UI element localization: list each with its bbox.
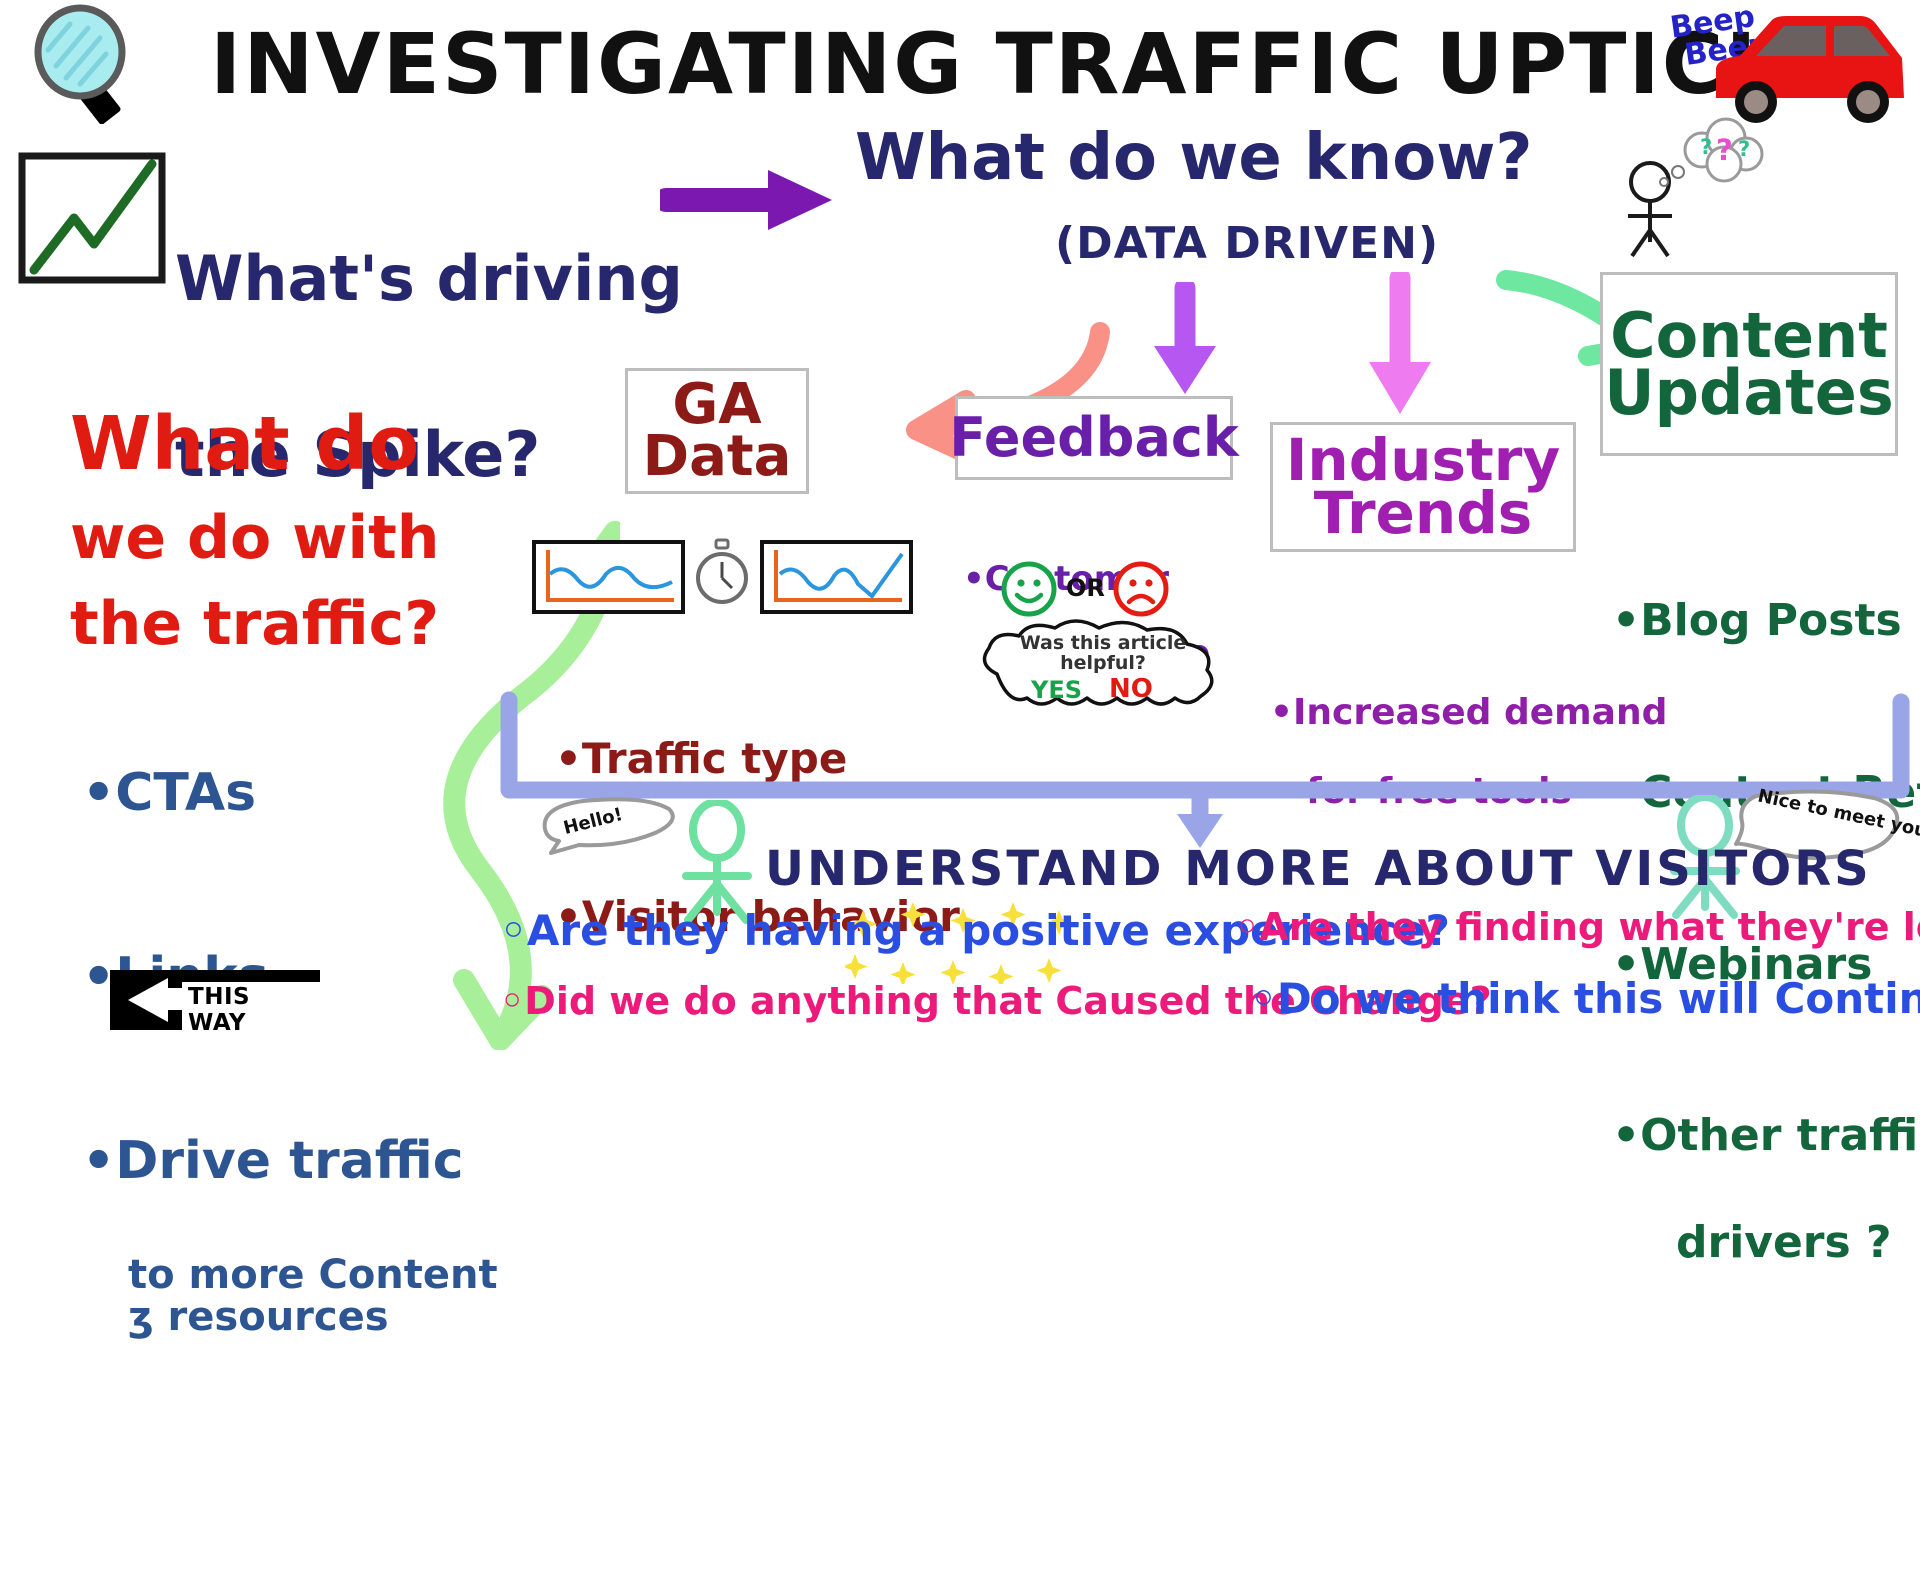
category-box-content-updates[interactable]: Content Updates: [1600, 272, 1898, 456]
bullet-label: Other traffic: [1640, 1110, 1920, 1161]
arrow-to-industry-trends: [1355, 272, 1445, 422]
bullet-sublabel: drivers ?: [1612, 1221, 1920, 1265]
heading-what-do-we-do-with-the-traffic: What do we do with the traffic?: [70, 380, 439, 683]
this-way-label: THIS WAY: [182, 982, 320, 1039]
category-label: Feedback: [949, 413, 1239, 463]
q1-line1: What's driving: [175, 250, 683, 309]
category-label: GA Data: [643, 379, 792, 482]
svg-text:?: ?: [1700, 135, 1712, 159]
smiley-face-icon: [1000, 560, 1058, 618]
bullet-label: Blog Posts: [1640, 595, 1902, 646]
bullet-label: Drive traffic: [115, 1131, 463, 1191]
thought-bubble-icon: ? ? ?: [1640, 110, 1780, 210]
arrow-right-purple: [660, 160, 840, 240]
redhead-line2: we do with: [70, 510, 439, 566]
bottom-question-3: ◦Are they finding what they're looking f…: [1235, 908, 1920, 947]
mini-chart-rising: [760, 540, 913, 614]
line-chart-icon: [18, 152, 166, 284]
svg-text:?: ?: [1738, 137, 1750, 161]
cloud-question-label: Was this article helpful?: [1005, 634, 1201, 674]
category-box-industry-trends[interactable]: Industry Trends: [1270, 422, 1576, 552]
or-label: OR: [1066, 576, 1105, 600]
category-label: Industry Trends: [1286, 434, 1560, 541]
frowny-face-icon: [1112, 560, 1170, 618]
heading-data-driven: (DATA DRIVEN): [1055, 222, 1439, 267]
page-title: INVESTIGATING TRAFFIC UPTICKS: [210, 22, 1855, 108]
bullet-label: CTAs: [115, 763, 256, 823]
bullet-sublabel: to more Content ʒ resources: [82, 1254, 498, 1338]
question-label: Are they finding what they're looking fo…: [1259, 905, 1920, 949]
category-label: Content Updates: [1604, 307, 1894, 421]
question-label: Do we think this will Continue?: [1277, 974, 1920, 1023]
speech-bubble-hello: Hello!: [535, 795, 685, 861]
category-box-ga-data[interactable]: GA Data: [625, 368, 809, 494]
mini-chart-flat: [532, 540, 685, 614]
category-box-feedback[interactable]: Feedback: [955, 396, 1233, 480]
this-way-sign[interactable]: THIS WAY: [110, 970, 320, 1030]
arrow-to-feedback: [1140, 282, 1230, 402]
list-item: •Drive traffic to more Content ʒ resourc…: [82, 1131, 498, 1460]
list-item: •Blog Posts: [1612, 592, 1920, 649]
list-item: •Other traffic drivers ?: [1612, 1107, 1920, 1380]
bottom-question-4: ◦Do we think this will Continue?: [1250, 978, 1920, 1021]
magnifying-glass-icon: [18, 4, 148, 124]
feedback-faces: OR: [1000, 560, 1200, 620]
stopwatch-icon: [692, 538, 752, 608]
whiteboard-canvas: INVESTIGATING TRAFFIC UPTICKS Beep Beep …: [0, 0, 1920, 1080]
arrow-left-icon: [128, 978, 168, 1022]
heading-what-do-we-know: What do we know?: [855, 128, 1532, 189]
svg-text:?: ?: [1716, 133, 1733, 167]
ga-mini-charts: [532, 540, 902, 610]
bottom-heading: UNDERSTAND MORE ABOUT VISITORS: [765, 845, 1872, 894]
redhead-line1: What do: [70, 410, 439, 480]
